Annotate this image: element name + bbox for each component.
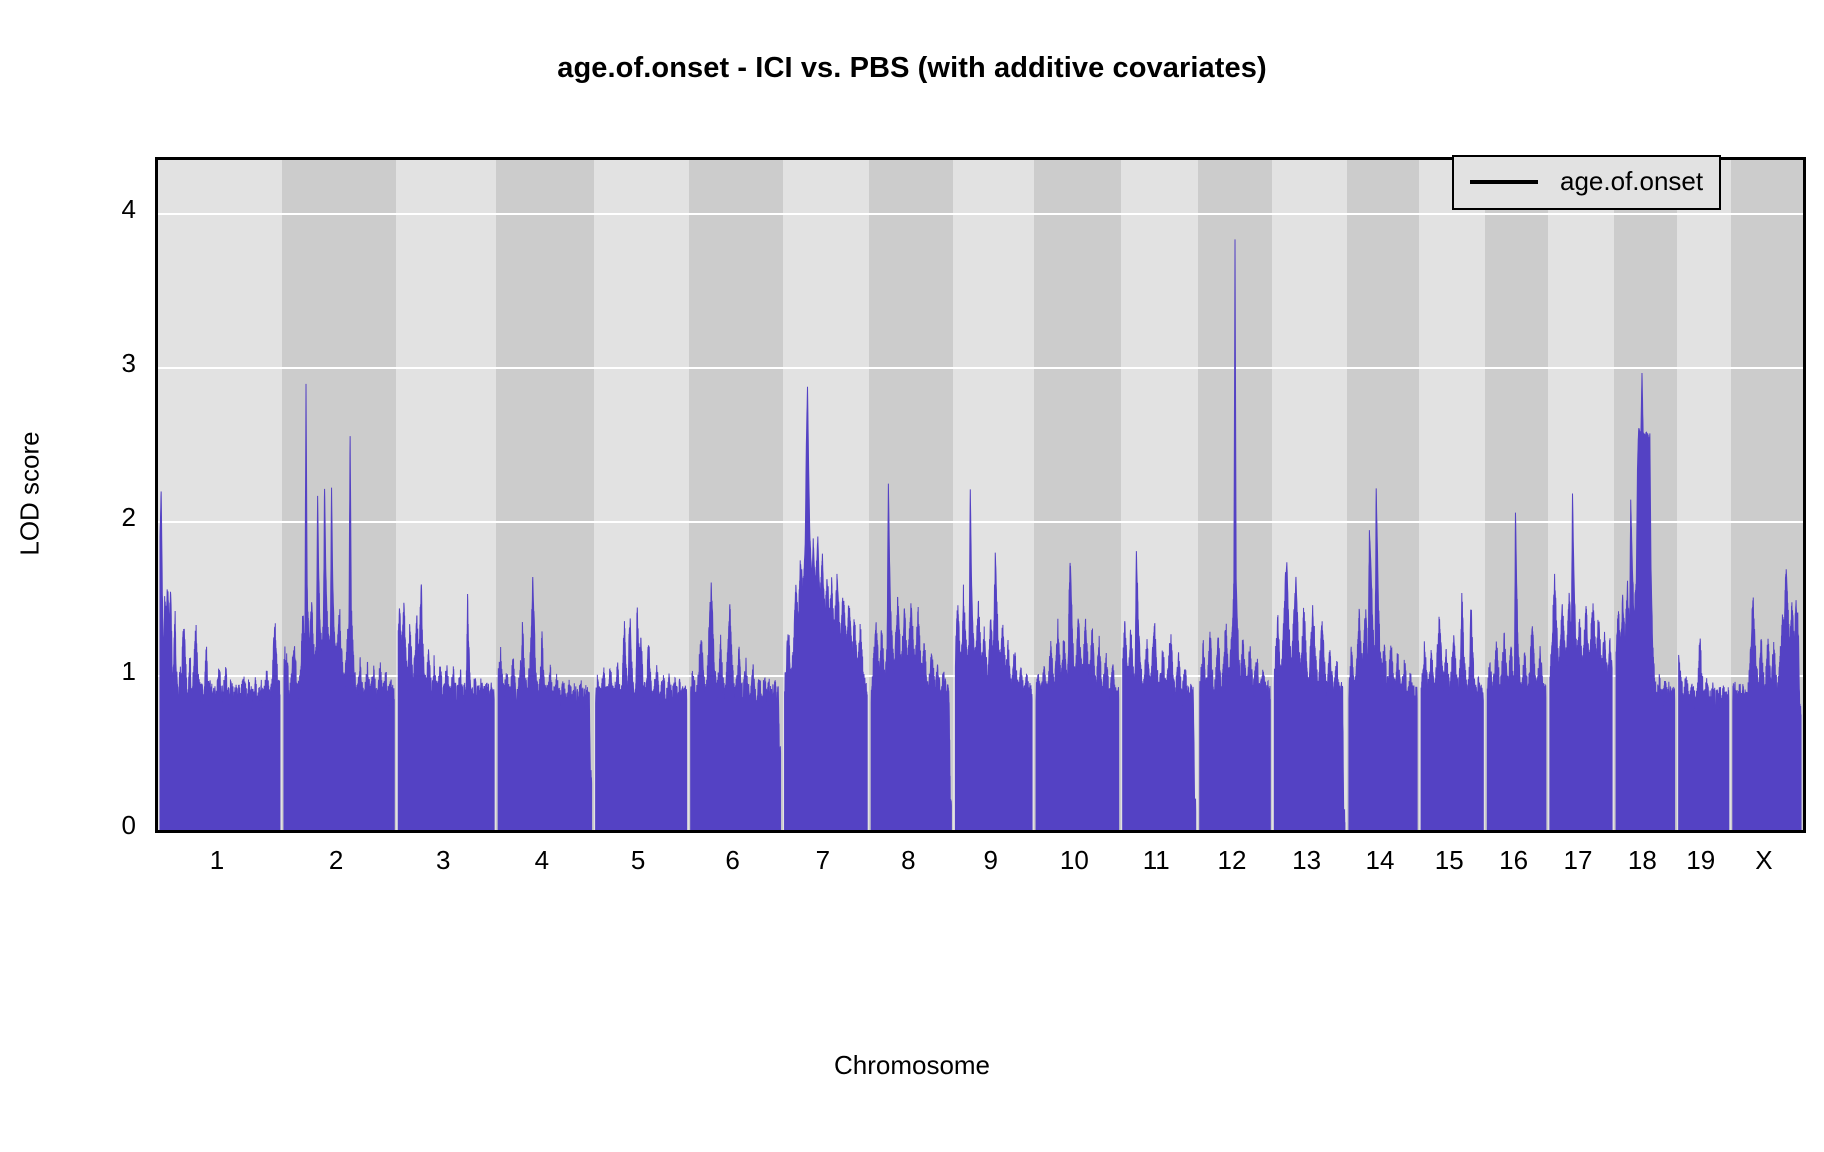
x-tick-9: 9	[984, 845, 998, 876]
x-tick-1: 1	[210, 845, 224, 876]
lod-trace-chr-4	[498, 577, 591, 830]
legend-line-swatch	[1470, 180, 1538, 184]
lod-trace-chr-6	[691, 583, 781, 830]
lod-trace-chr-14	[1349, 488, 1417, 830]
lod-trace-chr-17	[1550, 494, 1612, 830]
x-tick-17: 17	[1564, 845, 1593, 876]
x-tick-8: 8	[901, 845, 915, 876]
x-axis-tick-labels: 12345678910111213141516171819X	[155, 845, 1800, 905]
y-tick-1: 1	[96, 656, 136, 687]
legend: age.of.onset	[1452, 155, 1721, 210]
lod-trace-chr-19	[1679, 639, 1729, 830]
y-tick-0: 0	[96, 810, 136, 841]
lod-trace-chr-5	[596, 607, 687, 830]
lod-trace-chr-1	[160, 491, 280, 830]
x-tick-18: 18	[1628, 845, 1657, 876]
x-tick-4: 4	[535, 845, 549, 876]
x-tick-15: 15	[1435, 845, 1464, 876]
lod-trace-chr-X	[1733, 569, 1801, 830]
lod-trace-chr-2	[284, 384, 394, 830]
legend-label: age.of.onset	[1560, 166, 1703, 197]
x-tick-10: 10	[1060, 845, 1089, 876]
lod-trace-chr-9	[955, 489, 1032, 830]
x-tick-14: 14	[1366, 845, 1395, 876]
lod-trace-chr-10	[1036, 563, 1119, 830]
lod-trace-chr-3	[398, 585, 494, 831]
lod-trace-chr-18	[1616, 373, 1675, 830]
page-title: age.of.onset - ICI vs. PBS (with additiv…	[0, 52, 1824, 85]
lod-trace-chr-15	[1421, 593, 1483, 830]
lod-trace-chr-8	[871, 484, 951, 830]
x-tick-7: 7	[816, 845, 830, 876]
lod-trace-chr-11	[1123, 551, 1196, 830]
x-tick-19: 19	[1686, 845, 1715, 876]
x-tick-13: 13	[1292, 845, 1321, 876]
x-tick-12: 12	[1218, 845, 1247, 876]
x-tick-16: 16	[1499, 845, 1528, 876]
x-tick-6: 6	[725, 845, 739, 876]
x-tick-11: 11	[1143, 845, 1170, 876]
lod-trace-chr-16	[1487, 513, 1546, 830]
y-tick-2: 2	[96, 502, 136, 533]
x-tick-2: 2	[329, 845, 343, 876]
lod-trace-chr-13	[1274, 562, 1345, 830]
plot-area	[158, 160, 1803, 830]
lod-trace	[158, 160, 1803, 830]
x-tick-X: X	[1755, 845, 1772, 876]
lod-trace-chr-12	[1200, 239, 1271, 830]
x-tick-5: 5	[631, 845, 645, 876]
x-axis-title: Chromosome	[0, 1050, 1824, 1081]
y-axis-title: LOD score	[15, 394, 46, 594]
lod-score-figure: age.of.onset - ICI vs. PBS (with additiv…	[0, 0, 1824, 1152]
y-tick-4: 4	[96, 194, 136, 225]
lod-trace-chr-7	[785, 387, 868, 830]
y-axis-tick-labels: 01234	[90, 157, 136, 827]
y-tick-3: 3	[96, 348, 136, 379]
plot-panel	[155, 157, 1806, 833]
x-tick-3: 3	[436, 845, 450, 876]
